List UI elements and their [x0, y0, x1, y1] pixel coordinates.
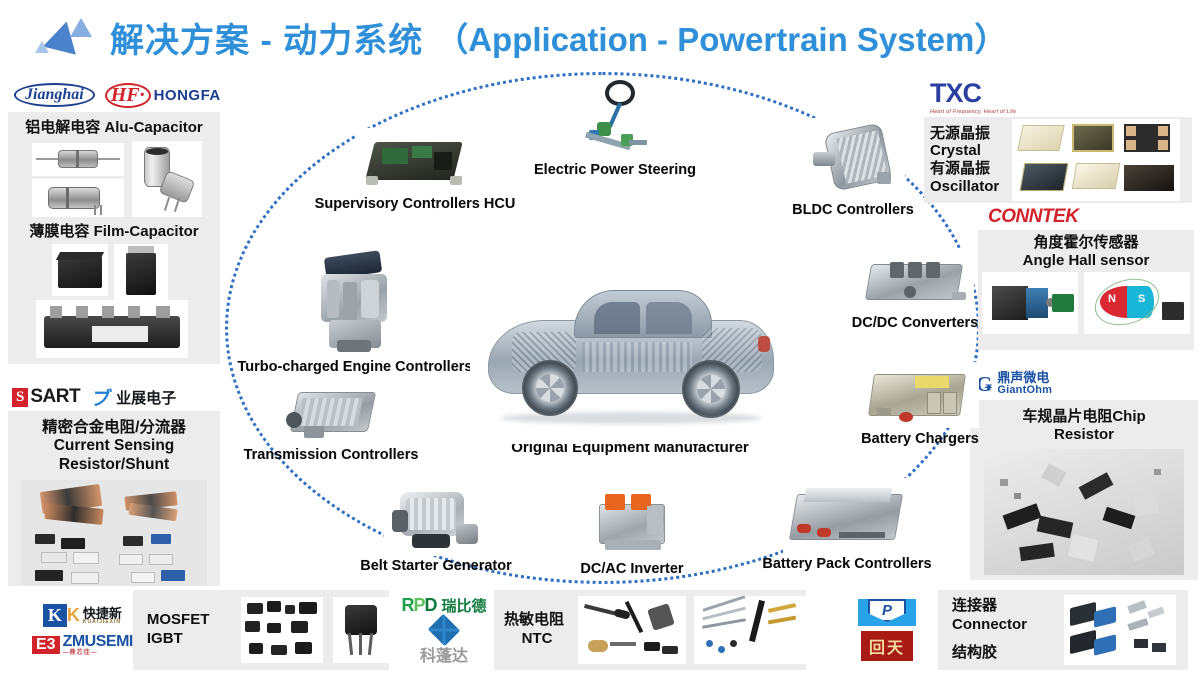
rpd-mark: RPD [401, 595, 436, 616]
kuaijiexin-pinyin: KUAIJIEXIN [83, 620, 122, 625]
node-battery-pack-controllers: Battery Pack Controllers [752, 478, 942, 573]
capacitor-panel-logos: Jianghai HF· HONGFA [8, 78, 220, 112]
label-transmission-controllers: Transmission Controllers [236, 448, 426, 464]
kuaijiexin-mark: K [43, 604, 67, 627]
photo-radial-cap [32, 179, 124, 217]
shunt-panel-logos: S SART ブ 业展电子 [8, 383, 220, 411]
node-dc-ac-inverter: DC/AC Inverter [548, 488, 716, 578]
chip-resistor-title-cn: 车规晶片电阻Chip [1022, 408, 1145, 426]
title-chinese: 解决方案 - 动力系统 [110, 13, 423, 62]
yezhan-wordmark: 业展电子 [116, 387, 176, 408]
photo-axial-cap [32, 143, 124, 176]
hall-title-cn: 角度霍尔传感器 [1033, 234, 1138, 252]
label-bldc-controllers: BLDC Controllers [757, 203, 949, 219]
img-battery-pack-controllers [783, 478, 911, 554]
node-transmission-controllers: Transmission Controllers [236, 382, 426, 464]
img-dc-dc-converters [856, 250, 974, 312]
photo-magnet-field: N S [1084, 272, 1190, 334]
sart-logo: S SART [12, 386, 80, 408]
connector-brand-logo: P [858, 599, 916, 626]
txc-wordmark: TXC [930, 78, 981, 109]
connector-card-body: 连接器 Connector 结构胶 [938, 590, 1188, 670]
ntc-card: RPD 瑞比德 科蓬达 热敏电阻 NTC [394, 588, 806, 672]
img-battery-chargers [861, 362, 979, 428]
huitian-logo: 回天 [861, 631, 913, 661]
connector-label-en: Connector [952, 616, 1052, 635]
shunt-title-cn: 精密合金电阻/分流器 [42, 419, 186, 437]
kuaijiexin-cn: 快捷新 [83, 607, 122, 620]
zmusemi-logo: E3 ZMUSEMI —鼎芯佳— [32, 634, 133, 656]
ntc-label-cn: 热敏电阻 [504, 611, 570, 630]
film-capacitor-photos [14, 244, 214, 362]
page-title: 解决方案 - 动力系统 （Application - Powertrain Sy… [0, 8, 1200, 66]
zmusemi-mark: E3 [32, 636, 60, 654]
node-turbo-charged-engine-controllers: Turbo-charged Engine Controllers [228, 250, 482, 376]
crystal-panel: TXC Heart of Frequency, Heart of Life 无源… [924, 78, 1192, 203]
txc-tagline: Heart of Frequency, Heart of Life [930, 109, 1016, 115]
label-battery-chargers: Battery Chargers [834, 432, 1006, 448]
photo-ntc-probes [578, 596, 686, 664]
shunt-title-en-2: Resistor/Shunt [59, 456, 169, 474]
igbt-label: IGBT [147, 630, 231, 649]
node-dc-dc-converters: DC/DC Converters [826, 250, 1004, 332]
connector-logos: P 回天 [836, 599, 938, 661]
resistor-shunt-panel: S SART ブ 业展电子 精密合金电阻/分流器 Current Sensing… [8, 383, 220, 599]
node-bldc-controllers: BLDC Controllers [757, 118, 949, 219]
img-bldc-controllers [801, 118, 905, 200]
crystal-photos [1012, 119, 1180, 201]
hongfa-mark: HF· [105, 83, 151, 108]
yezhan-logo: ブ 业展电子 [92, 384, 176, 411]
crystal-card: 无源晶振 Crystal 有源晶振 Oscillator [924, 117, 1192, 203]
img-turbo-charged-engine-controllers [307, 250, 403, 358]
hall-sensor-card: 角度霍尔传感器 Angle Hall sensor N S [978, 230, 1194, 350]
capacitor-card: 铝电解电容 Alu-Capacitor [8, 112, 220, 364]
img-supervisory-controllers-hcu [356, 128, 474, 194]
shunt-card: 精密合金电阻/分流器 Current Sensing Resistor/Shun… [8, 411, 220, 599]
shunt-title-en-1: Current Sensing [54, 437, 175, 455]
node-belt-starter-generator: Belt Starter Generator [348, 480, 524, 575]
shunt-photos [21, 480, 207, 598]
kuaijiexin-k: K [67, 605, 80, 626]
img-electric-power-steering [569, 78, 661, 162]
yezhan-mark: ブ [89, 384, 114, 411]
chip-resistor-title-en: Resistor [1054, 426, 1114, 444]
label-supervisory-controllers-hcu: Supervisory Controllers HCU [310, 197, 520, 213]
chip-resistor-photos [984, 449, 1184, 575]
node-oem-center: Original Equipment Manufacturer [470, 262, 790, 457]
kuaijiexin-logo: K K 快捷新 KUAIJIEXIN [43, 604, 122, 627]
zmusemi-wordmark: ZMUSEMI [63, 634, 133, 650]
rpd-logo: RPD 瑞比德 [401, 595, 486, 616]
alu-capacitor-photos [14, 141, 214, 219]
photo-film-box-1 [52, 244, 108, 296]
node-electric-power-steering: Electric Power Steering [515, 78, 715, 179]
sart-wordmark: SART [30, 386, 80, 408]
label-dc-dc-converters: DC/DC Converters [826, 316, 1004, 332]
conntek-wordmark: CONNTEK [988, 206, 1078, 227]
img-cutaway-car [470, 262, 790, 444]
alu-capacitor-title: 铝电解电容 Alu-Capacitor [25, 119, 203, 137]
bottom-strip: K K 快捷新 KUAIJIEXIN E3 ZMUSEMI —鼎芯佳— [0, 586, 1200, 674]
photo-smd-packages [241, 597, 323, 663]
mosfet-label: MOSFET [147, 611, 231, 630]
img-belt-starter-generator [384, 480, 488, 556]
hall-title-en: Angle Hall sensor [1023, 252, 1150, 270]
sart-mark: S [12, 388, 28, 407]
photo-bridge-rectifier [333, 597, 389, 663]
adhesive-label-cn: 结构胶 [952, 644, 1052, 663]
title-english: （Application - Powertrain System） [435, 13, 1007, 61]
photo-ntc-leads [694, 596, 806, 664]
hall-sensor-panel: CONNTEK 角度霍尔传感器 Angle Hall sensor N S [978, 206, 1194, 350]
label-electric-power-steering: Electric Power Steering [515, 163, 715, 179]
zmusemi-sub: —鼎芯佳— [63, 650, 133, 656]
txc-logo: TXC Heart of Frequency, Heart of Life [924, 78, 1192, 115]
hongfa-logo: HF· HONGFA [105, 83, 221, 108]
img-transmission-controllers [278, 382, 384, 444]
photo-power-module [36, 300, 188, 358]
photo-film-box-2 [114, 244, 168, 300]
hongfa-wordmark: HONGFA [154, 87, 221, 104]
photo-connectors [1064, 595, 1176, 665]
mosfet-logos: K K 快捷新 KUAIJIEXIN E3 ZMUSEMI —鼎芯佳— [32, 604, 133, 656]
capacitor-panel: Jianghai HF· HONGFA 铝电解电容 Alu-Capacitor [8, 78, 220, 364]
mosfet-card-body: MOSFET IGBT [133, 590, 389, 670]
node-battery-chargers: Battery Chargers [834, 362, 1006, 448]
hall-photos: N S [982, 272, 1190, 334]
jianghai-logo: Jianghai [14, 83, 95, 107]
ntc-card-body: 热敏电阻 NTC [494, 590, 806, 670]
mosfet-igbt-card: K K 快捷新 KUAIJIEXIN E3 ZMUSEMI —鼎芯佳— [32, 588, 382, 672]
slide-root: 解决方案 - 动力系统 （Application - Powertrain Sy… [0, 0, 1200, 674]
label-dc-ac-inverter: DC/AC Inverter [548, 562, 716, 578]
connector-adhesive-card: P 回天 连接器 Connector 结构胶 [836, 588, 1188, 672]
node-supervisory-controllers-hcu: Supervisory Controllers HCU [310, 128, 520, 213]
triangles-logo [32, 15, 100, 59]
label-battery-pack-controllers: Battery Pack Controllers [752, 557, 942, 573]
conntek-logo: CONNTEK [978, 206, 1194, 228]
label-belt-starter-generator: Belt Starter Generator [348, 559, 524, 575]
label-turbo-charged-engine-controllers: Turbo-charged Engine Controllers [228, 360, 482, 376]
film-capacitor-title: 薄膜电容 Film-Capacitor [29, 223, 198, 241]
ntc-logos: RPD 瑞比德 科蓬达 [394, 595, 494, 666]
ntc-label-en: NTC [504, 630, 570, 649]
connector-brand-inner: P [868, 599, 906, 622]
img-dc-ac-inverter [581, 488, 683, 558]
photo-can-caps [132, 141, 202, 217]
connector-label-cn: 连接器 [952, 597, 1052, 616]
kelongda-logo: 科蓬达 [420, 619, 468, 666]
rpd-cn: 瑞比德 [442, 595, 487, 616]
